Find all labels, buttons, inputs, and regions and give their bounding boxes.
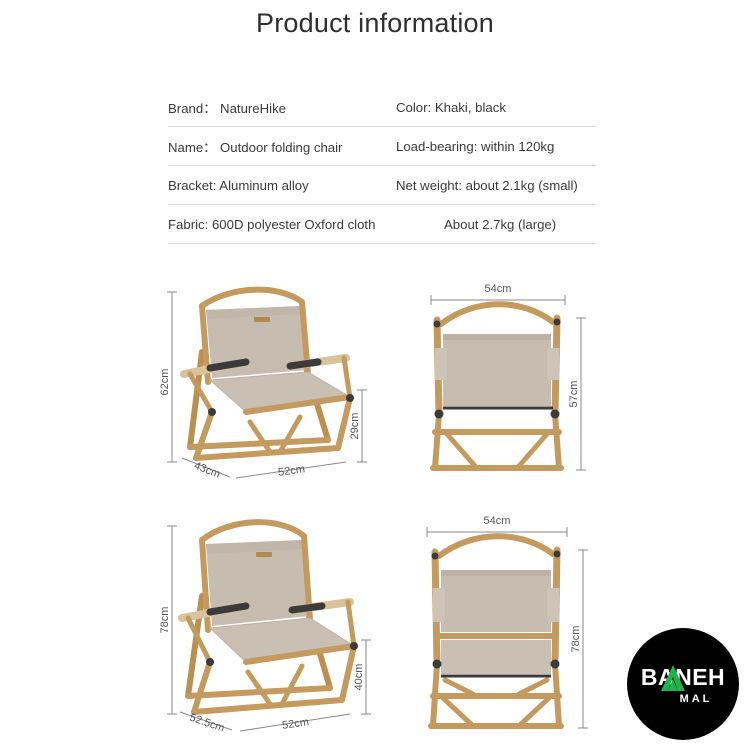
dimension-depth: 52.5cm	[180, 712, 232, 735]
dimension-depth: 43cm	[182, 458, 230, 481]
chair-illustration-small-folded	[433, 304, 561, 468]
chair-illustration-large-folded	[431, 536, 561, 726]
brand-tag	[254, 317, 270, 322]
chair-illustration-large-open	[182, 522, 358, 712]
figure-small-chair-folded: 54cm 57cm	[405, 262, 610, 487]
brand-tag	[256, 552, 272, 557]
dimension-width: 52cm	[240, 714, 350, 732]
dimension-height-label: 57cm	[568, 381, 580, 408]
spec-brand-label: Brand： NatureHike	[168, 98, 396, 117]
table-row: Bracket: Aluminum alloy Net weight: abou…	[168, 166, 596, 205]
dimension-width-label: 52cm	[277, 463, 305, 479]
dimension-width-label: 54cm	[485, 283, 512, 295]
table-row: Brand： NatureHike Color: Khaki, black	[168, 88, 596, 127]
dimension-height-label: 62cm	[159, 369, 171, 396]
chair-illustration-small-open	[184, 290, 354, 458]
dimension-height: 78cm	[159, 526, 177, 714]
spec-name-label: Name： Outdoor folding chair	[168, 137, 396, 156]
specification-table: Brand： NatureHike Color: Khaki, black Na…	[168, 88, 596, 244]
dimension-height: 62cm	[159, 292, 177, 462]
spec-net-weight-large-value: About 2.7kg (large)	[396, 217, 596, 232]
spec-bracket-label: Bracket: Aluminum alloy	[168, 178, 396, 193]
dimension-depth-label: 43cm	[192, 460, 221, 481]
dimension-height-label: 78cm	[570, 626, 582, 653]
dimension-seat-height-label: 29cm	[349, 413, 361, 440]
spec-net-weight-value: Net weight: about 2.1kg (small)	[396, 178, 596, 193]
watermark-brand-bottom: MAL	[627, 694, 739, 705]
dimension-height: 78cm	[570, 550, 588, 728]
tent-icon	[660, 664, 686, 692]
spec-load-bearing-value: Load-bearing: within 120kg	[396, 139, 596, 154]
dimension-seat-height-label: 40cm	[353, 664, 365, 691]
table-row: Name： Outdoor folding chair Load-bearing…	[168, 127, 596, 166]
dimension-width: 52cm	[236, 462, 346, 479]
figure-large-chair-open: 78cm 40cm 52.5cm 52cm	[150, 500, 380, 740]
watermark-logo: BANEH MAL	[627, 628, 739, 740]
figure-large-chair-folded: 54cm 78cm	[395, 500, 610, 740]
page-title: Product information	[0, 8, 750, 39]
dimension-width-label: 54cm	[484, 515, 511, 527]
dimension-depth-label: 52.5cm	[188, 712, 226, 735]
dimension-height: 57cm	[568, 318, 586, 470]
figure-small-chair-open: 62cm 29cm 43cm 52cm	[150, 262, 380, 487]
dimension-width-label: 52cm	[281, 716, 309, 732]
dimension-height-label: 78cm	[159, 607, 171, 634]
table-row: Fabric: 600D polyester Oxford cloth Abou…	[168, 205, 596, 244]
spec-color-value: Color: Khaki, black	[396, 100, 596, 115]
spec-fabric-label: Fabric: 600D polyester Oxford cloth	[168, 217, 396, 232]
